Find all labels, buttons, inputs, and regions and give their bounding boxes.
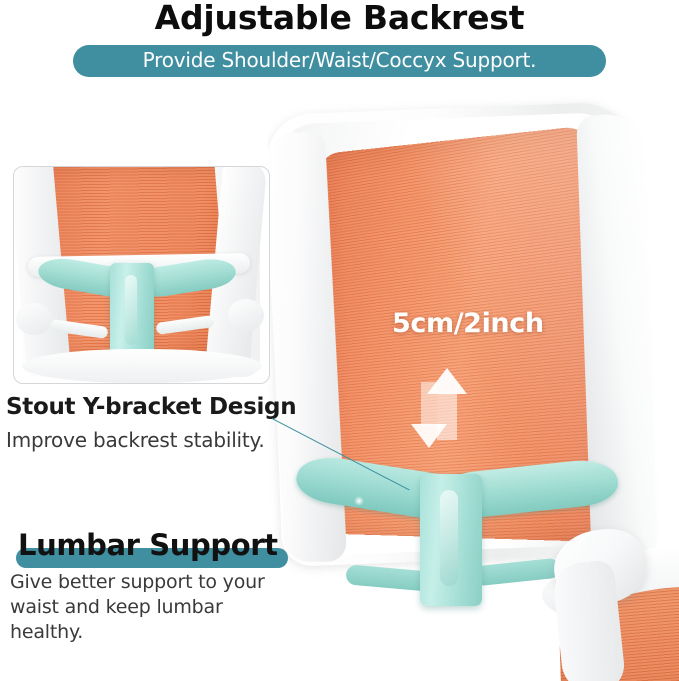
y-bracket-center-post <box>420 474 482 606</box>
stout-bracket-heading: Stout Y-bracket Design <box>6 394 296 420</box>
lumbar-heading-group: Lumbar Support <box>8 528 298 568</box>
lumbar-support-heading: Lumbar Support <box>18 528 278 562</box>
chair-product-photo <box>268 92 679 681</box>
inset-y-bracket-center-post <box>110 263 154 359</box>
inset-left-knob <box>16 303 52 335</box>
inset-right-knob <box>228 299 264 331</box>
lumbar-support-description: Give better support to your waist and ke… <box>10 570 300 645</box>
subtitle-text: Provide Shoulder/Waist/Coccyx Support. <box>143 48 537 72</box>
down-arrow-stem <box>421 382 437 426</box>
down-arrow-icon <box>411 424 447 448</box>
y-bracket-detail-inset <box>13 166 270 384</box>
page-title: Adjustable Backrest <box>0 0 679 37</box>
y-bracket-right-hook <box>473 558 561 587</box>
stout-bracket-subtext: Improve backrest stability. <box>6 428 265 452</box>
y-bracket-highlight <box>354 496 364 506</box>
inset-bottom-frame <box>22 349 262 383</box>
subtitle-banner: Provide Shoulder/Waist/Coccyx Support. <box>73 45 606 77</box>
measurement-callout: 5cm/2inch <box>392 308 544 339</box>
